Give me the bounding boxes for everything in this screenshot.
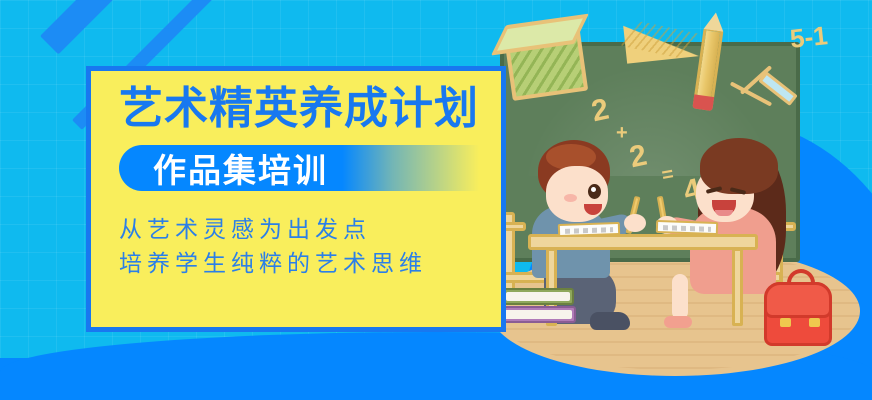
promo-banner: 2 + 2 = 4 5-1 bbox=[0, 0, 872, 400]
backpack-flap bbox=[764, 282, 832, 318]
boy-blush bbox=[564, 194, 577, 202]
book-green-pages bbox=[506, 292, 570, 301]
backpack-buckle-1 bbox=[780, 318, 791, 327]
text-panel: 艺术精英养成计划 作品集培训 从艺术灵感为出发点 培养学生纯粹的艺术思维 bbox=[86, 66, 506, 332]
badge-label: 作品集培训 bbox=[153, 144, 328, 192]
girl-leg bbox=[672, 274, 688, 320]
backpack-icon bbox=[764, 282, 832, 346]
subtitle-line-2: 培养学生纯粹的艺术思维 bbox=[119, 247, 501, 280]
classroom-illustration: 2 + 2 = 4 5-1 bbox=[480, 0, 872, 400]
chalk-corner-note: 5-1 bbox=[788, 20, 829, 55]
cube-model-icon bbox=[504, 25, 588, 101]
boy-eye bbox=[588, 184, 601, 199]
desk-leg-right bbox=[732, 248, 743, 326]
girl-shoe bbox=[664, 316, 692, 328]
boy-shoe bbox=[590, 312, 630, 330]
paper-left bbox=[558, 222, 620, 237]
girl-hair-top bbox=[700, 138, 778, 194]
backpack-buckle-2 bbox=[809, 318, 820, 327]
badge-container: 作品集培训 bbox=[119, 145, 479, 191]
subtitle-group: 从艺术灵感为出发点 培养学生纯粹的艺术思维 bbox=[119, 213, 501, 280]
page-title: 艺术精英养成计划 bbox=[119, 85, 501, 133]
boy-hand bbox=[624, 214, 646, 232]
book-purple-pages bbox=[502, 310, 572, 319]
paper-right bbox=[656, 220, 718, 235]
subtitle-line-1: 从艺术灵感为出发点 bbox=[119, 213, 501, 246]
